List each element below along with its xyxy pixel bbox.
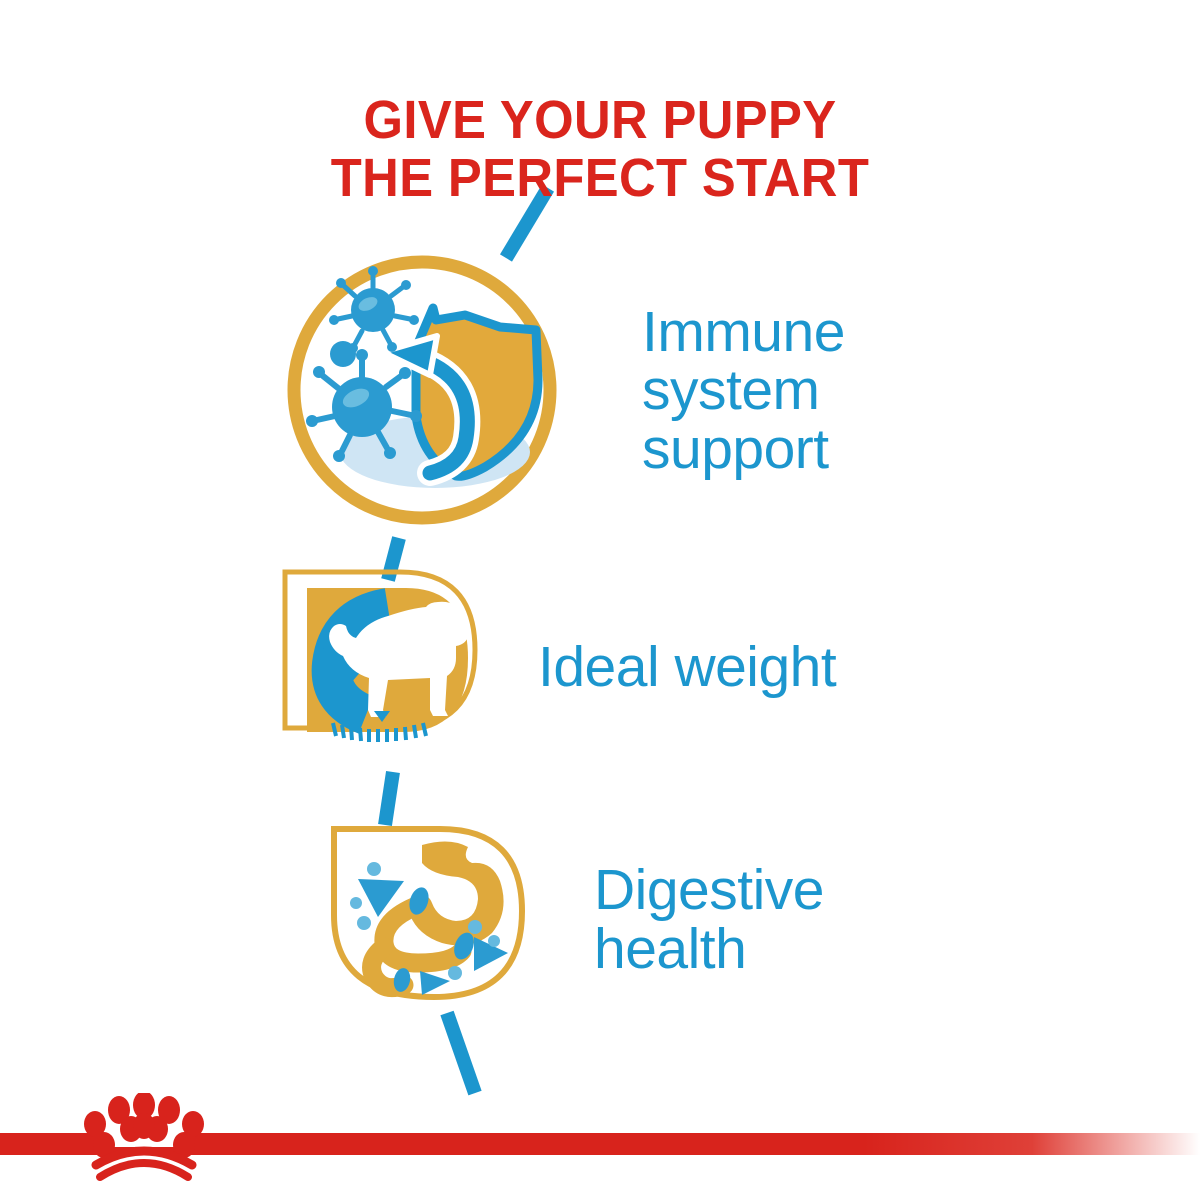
ideal-weight-icon: [270, 560, 500, 775]
benefit-row-digestive-health: Digestive health: [270, 815, 824, 1020]
digestive-health-icon: [322, 815, 552, 1020]
headline-line-1: GIVE YOUR PUPPY: [364, 90, 837, 150]
benefit-label-digestive-health: Digestive health: [594, 861, 824, 977]
royal-canin-crown-logo: [78, 1093, 210, 1195]
immune-shield-icon: [270, 230, 590, 555]
benefit-row-immune: Immune system support: [270, 230, 845, 555]
benefit-label-immune: Immune system support: [642, 303, 845, 477]
benefit-label-ideal-weight: Ideal weight: [538, 638, 836, 696]
benefit-row-ideal-weight: Ideal weight: [270, 560, 836, 775]
headline-line-2: THE PERFECT START: [36, 150, 1164, 208]
infographic-page: GIVE YOUR PUPPY THE PERFECT START: [0, 0, 1200, 1200]
